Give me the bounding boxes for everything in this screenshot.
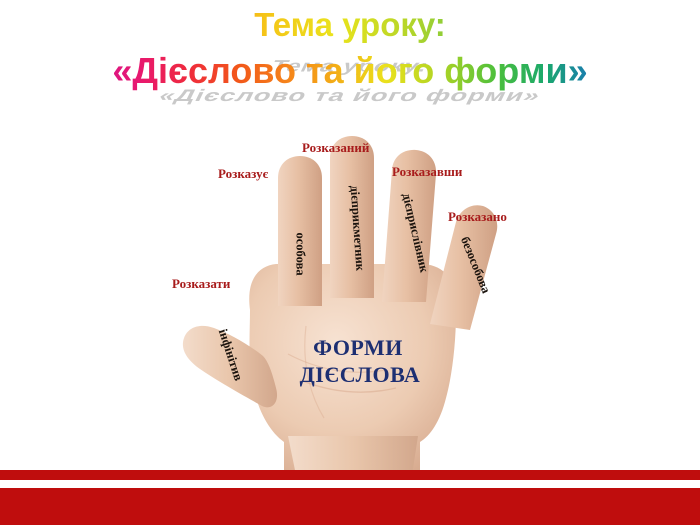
hand-illustration [0, 130, 700, 475]
index-finger-shape [278, 156, 322, 306]
label-ring-rozkazavshy: Розказавши [392, 164, 462, 180]
label-pinky-rozkazano: Розказано [448, 209, 507, 225]
label-middle-rozkazanyi: Розказаний [302, 140, 369, 156]
slide-canvas: Тема уроку: «Дієслово та його форми» Тем… [0, 0, 700, 525]
label-index-rozkazuie: Розказує [218, 166, 268, 182]
palm-text-line1: ФОРМИ [268, 335, 448, 361]
palm-text-line2: ДІЄСЛОВА [262, 362, 458, 388]
footer-stripe-thin [0, 470, 700, 480]
title-line2: «Дієслово та його форми» [0, 50, 700, 92]
footer-bar-thick [0, 488, 700, 525]
title-block: Тема уроку: «Дієслово та його форми» Тем… [0, 0, 700, 110]
title-line1: Тема уроку: [0, 6, 700, 44]
finger-word-index: особова [293, 233, 308, 276]
hand-diagram: інфінітив особова дієприкметник дієприсл… [0, 130, 700, 475]
label-thumb-rozkazaty: Розказати [172, 276, 230, 292]
